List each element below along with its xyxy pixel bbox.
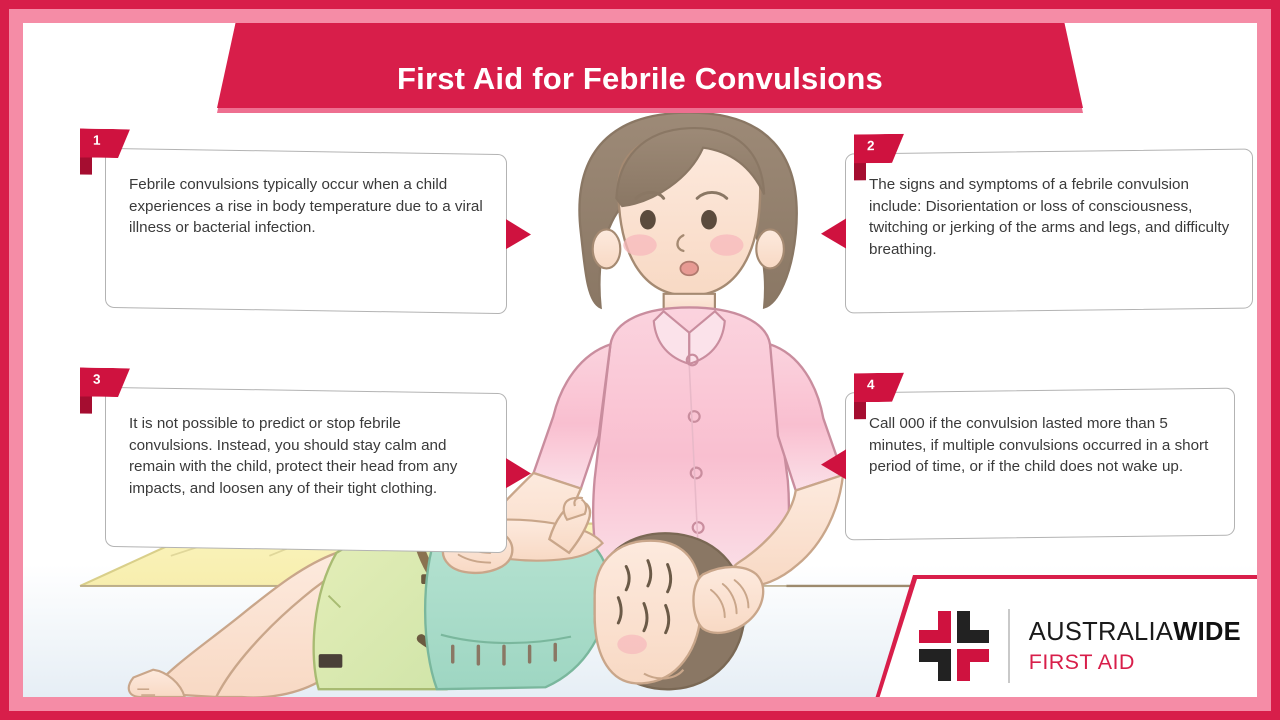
step-number-1: 1 <box>93 133 101 148</box>
arrow-left-icon-4 <box>821 449 846 479</box>
cross-quadrant-top-left <box>919 611 951 643</box>
callout-text-3: It is not possible to predict or stop fe… <box>129 413 488 499</box>
poster-canvas: First Aid for Febrile Convulsions 1 Febr… <box>23 23 1257 697</box>
callout-step-4: 4 Call 000 if the convulsion lasted more… <box>845 388 1235 541</box>
brand-name-part2: WIDE <box>1173 618 1241 646</box>
page-title: First Aid for Febrile Convulsions <box>23 61 1257 97</box>
logo-wordmark: AUSTRALIAWIDE FIRST AID <box>1029 618 1241 675</box>
arrow-right-icon-1 <box>506 219 531 249</box>
cross-quadrant-bottom-left <box>919 649 951 681</box>
step-number-tab-2: 2 <box>854 134 904 164</box>
step-number-3: 3 <box>93 372 101 387</box>
cross-quadrant-bottom-right <box>957 649 989 681</box>
brand-name: AUSTRALIAWIDE <box>1029 618 1241 647</box>
callout-step-2: 2 The signs and symptoms of a febrile co… <box>845 149 1253 314</box>
step-number-fold-2 <box>854 161 866 180</box>
step-number-2: 2 <box>867 138 875 153</box>
cross-quadrant-top-right <box>957 611 989 643</box>
logo-divider <box>1008 609 1010 683</box>
callout-text-1: Febrile convulsions typically occur when… <box>129 174 488 239</box>
arrow-right-icon-3 <box>506 458 531 488</box>
outer-frame: First Aid for Febrile Convulsions 1 Febr… <box>0 0 1280 720</box>
first-aid-cross-icon <box>919 611 989 681</box>
inner-frame-line: First Aid for Febrile Convulsions 1 Febr… <box>9 9 1271 711</box>
callout-step-1: 1 Febrile convulsions typically occur wh… <box>105 148 507 314</box>
brand-tagline-text: FIRST AID <box>1029 650 1135 674</box>
step-number-tab-1: 1 <box>80 128 130 158</box>
step-number-fold-4 <box>854 400 866 419</box>
callout-text-4: Call 000 if the convulsion lasted more t… <box>869 413 1216 478</box>
step-number-tab-4: 4 <box>854 373 904 403</box>
brand-name-part1: AUSTRALIA <box>1029 618 1173 646</box>
brand-logo: AUSTRALIAWIDE FIRST AID <box>919 609 1241 683</box>
callout-text-2: The signs and symptoms of a febrile conv… <box>869 174 1234 260</box>
arrow-left-icon-2 <box>821 218 846 248</box>
callout-step-3: 3 It is not possible to predict or stop … <box>105 387 507 553</box>
step-number-4: 4 <box>867 377 875 392</box>
step-number-tab-3: 3 <box>80 367 130 397</box>
brand-tagline: FIRST AID <box>1029 650 1241 675</box>
step-number-fold-1 <box>80 155 92 174</box>
step-number-fold-3 <box>80 394 92 413</box>
